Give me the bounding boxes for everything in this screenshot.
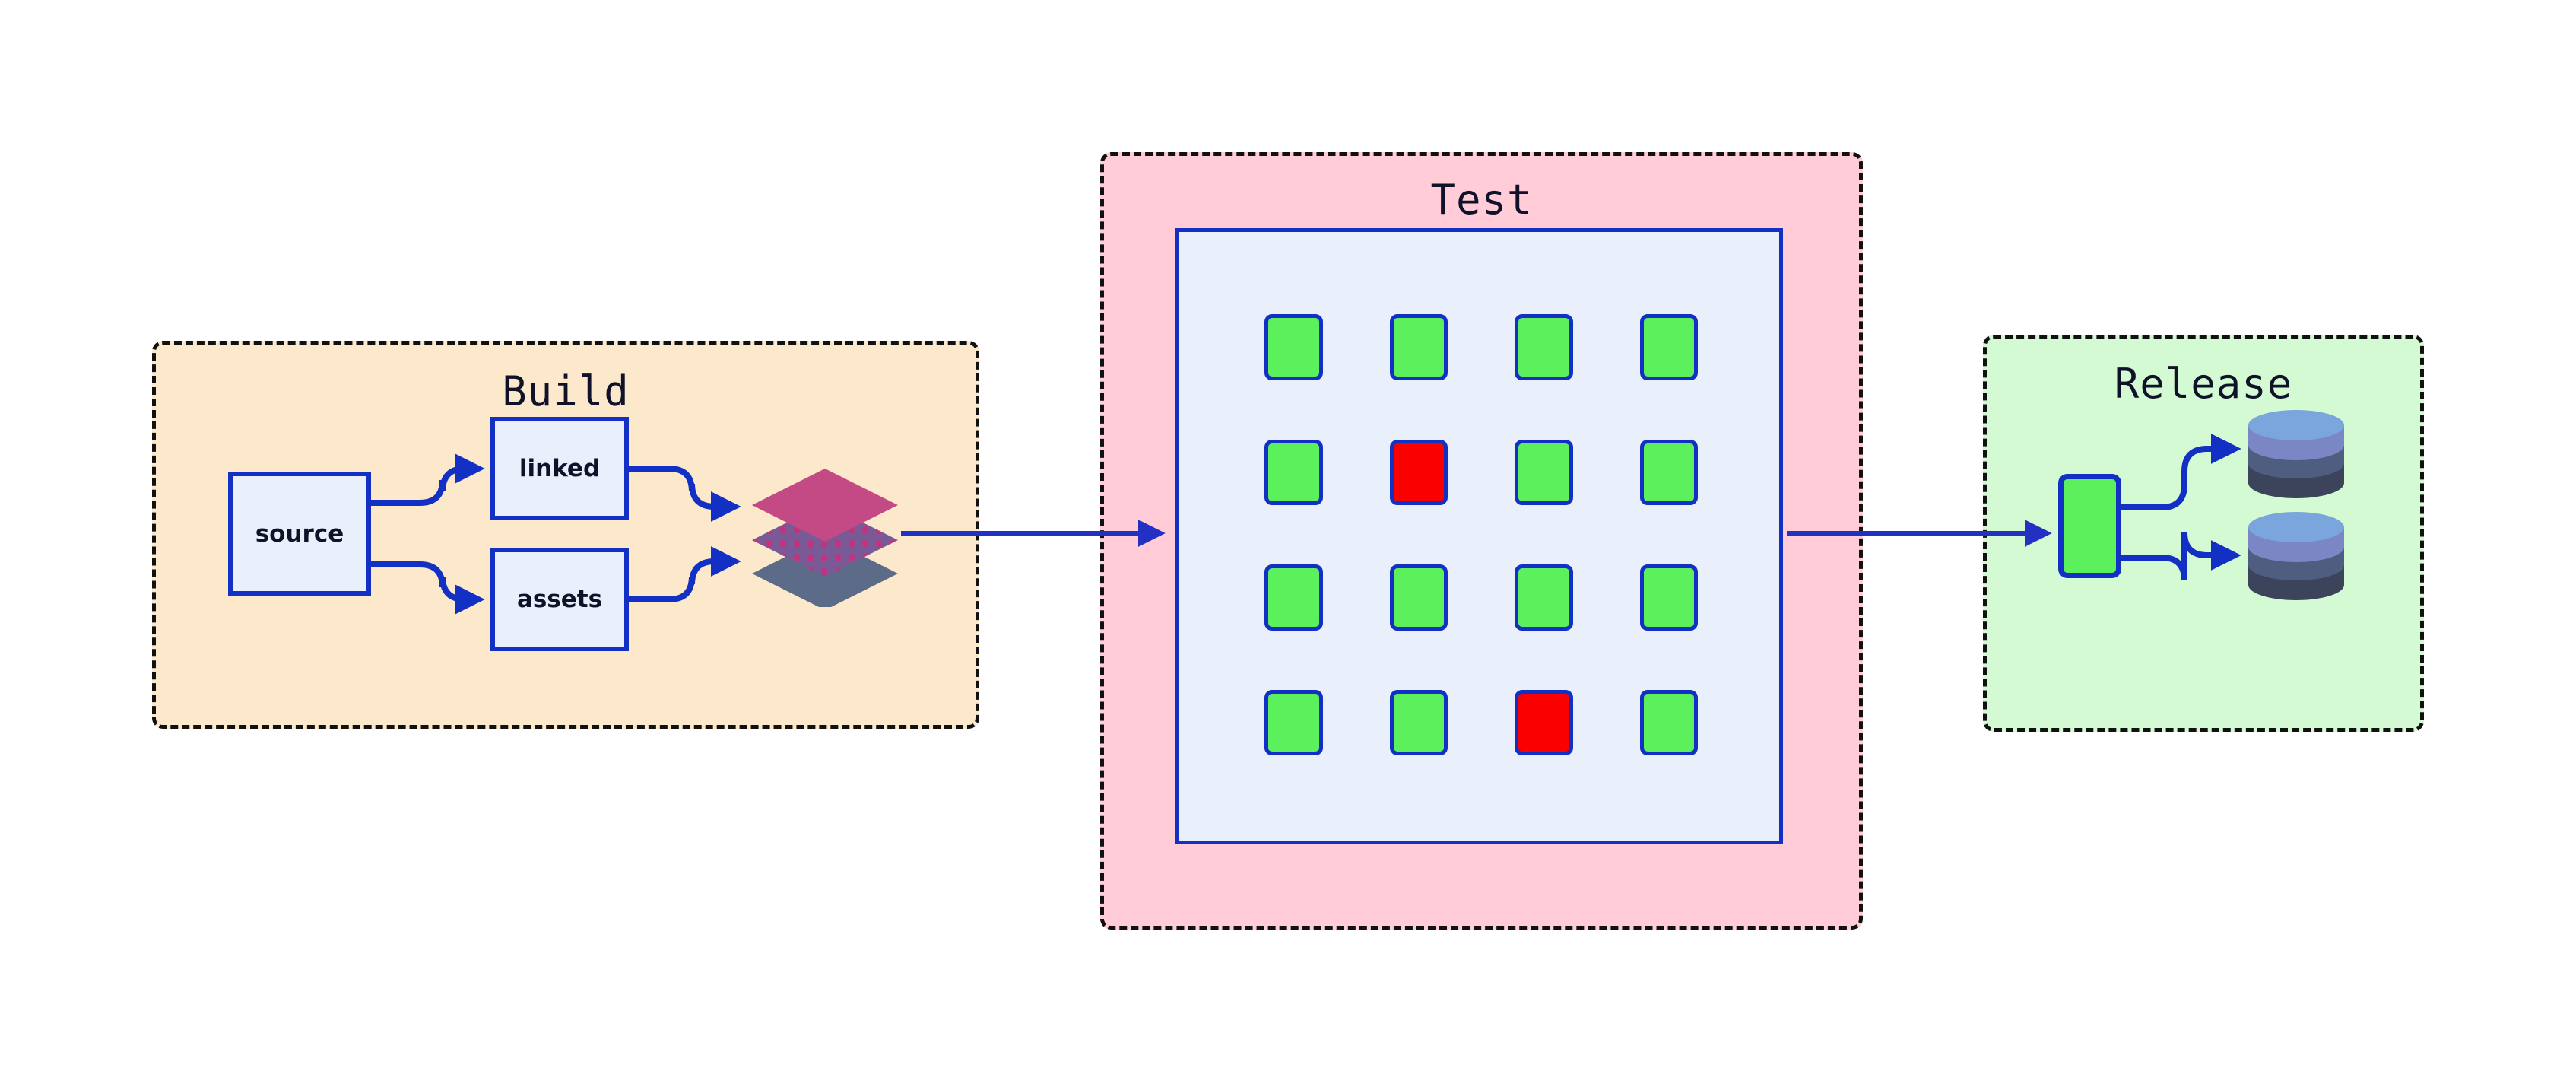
database-icon-primary[interactable]	[2247, 408, 2346, 500]
test-cell-2-1[interactable]	[1264, 440, 1323, 506]
test-cell-1-4[interactable]	[1640, 314, 1699, 380]
stage-title-test: Test	[1104, 176, 1859, 224]
test-cell-2-3[interactable]	[1515, 440, 1573, 506]
pipeline-diagram: Build source linked assets	[0, 0, 2576, 1068]
node-linked-label: linked	[519, 455, 600, 482]
node-assets-label: assets	[517, 586, 602, 613]
test-cell-1-2[interactable]	[1390, 314, 1448, 380]
stage-title-build: Build	[156, 367, 976, 415]
node-source-label: source	[255, 520, 344, 548]
test-cell-2-4[interactable]	[1640, 440, 1699, 506]
stage-title-release: Release	[1987, 360, 2420, 408]
test-cell-3-1[interactable]	[1264, 564, 1323, 631]
node-assets[interactable]: assets	[490, 548, 629, 651]
test-cell-3-2[interactable]	[1390, 564, 1448, 631]
test-cell-2-2[interactable]	[1390, 440, 1448, 506]
test-cell-4-2[interactable]	[1390, 690, 1448, 756]
database-icon-replica[interactable]	[2247, 510, 2346, 602]
node-source[interactable]: source	[228, 472, 371, 596]
test-cell-3-3[interactable]	[1515, 564, 1573, 631]
node-linked[interactable]: linked	[490, 417, 629, 520]
test-cell-1-3[interactable]	[1515, 314, 1573, 380]
test-cell-4-1[interactable]	[1264, 690, 1323, 756]
stage-group-release[interactable]: Release	[1983, 335, 2424, 732]
test-results-grid	[1264, 314, 1698, 755]
release-gate[interactable]	[2058, 474, 2121, 578]
test-cell-1-1[interactable]	[1264, 314, 1323, 380]
test-cell-3-4[interactable]	[1640, 564, 1699, 631]
layers-stack-icon	[749, 455, 901, 607]
test-cell-4-3[interactable]	[1515, 690, 1573, 756]
test-cell-4-4[interactable]	[1640, 690, 1699, 756]
